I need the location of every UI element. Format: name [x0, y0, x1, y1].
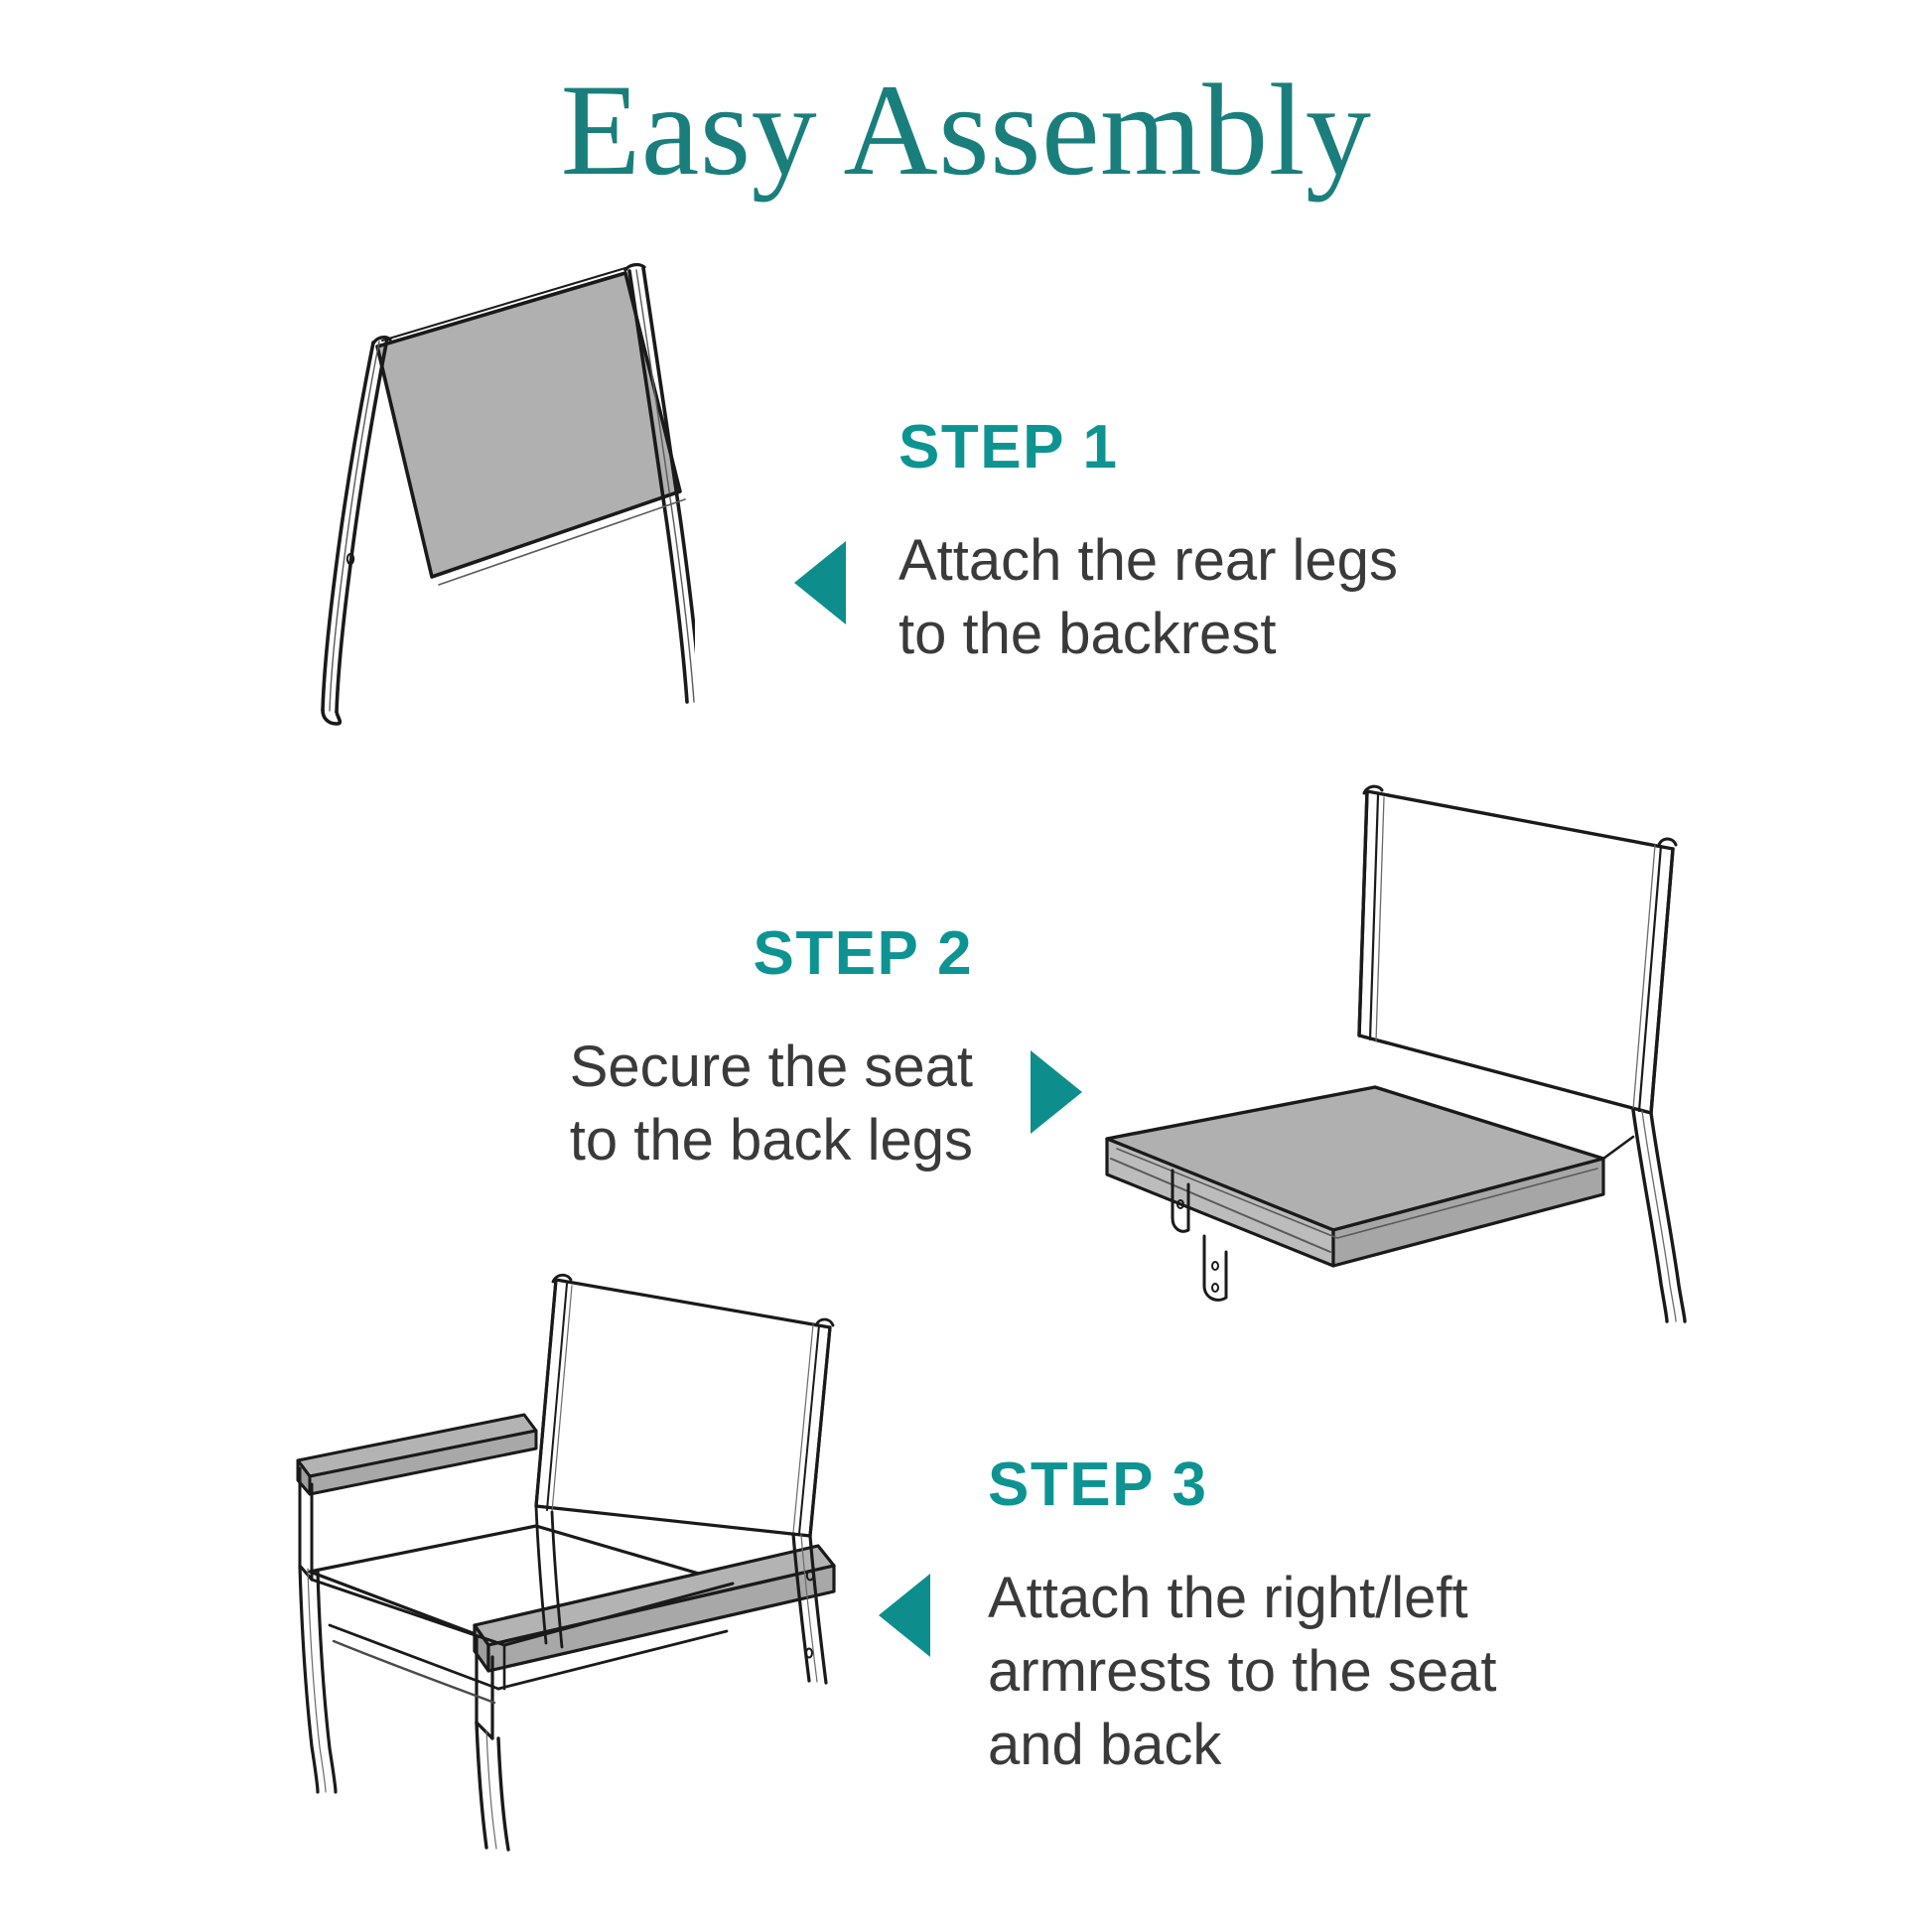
illustration-step-3: [238, 1256, 894, 1852]
arrow-right-icon: [1031, 1050, 1082, 1134]
step-3-description: Attach the right/left armrests to the se…: [988, 1562, 1643, 1783]
step-2-heading: STEP 2: [357, 923, 973, 985]
step-2-text-block: STEP 2 Secure the seat to the back legs: [357, 923, 973, 1177]
arrow-left-icon: [879, 1574, 930, 1657]
step-3-text-block: STEP 3 Attach the right/left armrests to…: [988, 1454, 1643, 1783]
step-1-heading: STEP 1: [898, 417, 1534, 479]
illustration-step-2: [1077, 769, 1812, 1325]
step-1-text-block: STEP 1 Attach the rear legs to the backr…: [898, 417, 1534, 671]
page-title: Easy Assembly: [0, 58, 1932, 202]
step-2-description: Secure the seat to the back legs: [357, 1031, 973, 1177]
assembly-infographic: Easy Assembly: [0, 0, 1932, 1932]
arrow-left-icon: [794, 541, 846, 624]
step-3-heading: STEP 3: [988, 1454, 1643, 1516]
illustration-step-1: [228, 243, 695, 759]
step-1-description: Attach the rear legs to the backrest: [898, 524, 1534, 671]
